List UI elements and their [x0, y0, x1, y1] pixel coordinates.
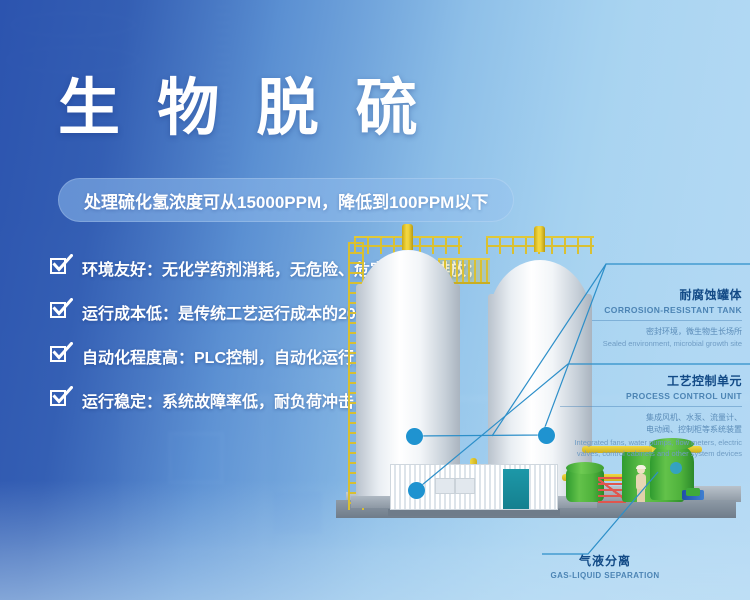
annotation-desc-en: Sealed environment, microbial growth sit…: [576, 338, 742, 349]
checkbox-checked-icon: [50, 346, 70, 366]
leader-line-separation: [542, 472, 658, 554]
subtitle-banner: 处理硫化氢浓度可从15000PPM，降低到100PPM以下: [58, 178, 514, 222]
feature-label: 运行稳定：系统故障率低，耐负荷冲击；: [82, 388, 370, 412]
annotation-divider: [560, 406, 742, 407]
annotation-desc-en-line2: valves, control cabinets and other syste…: [542, 448, 742, 459]
hotspot-dot-tank-left[interactable]: [406, 428, 423, 445]
annotation-title-en: GAS-LIQUID SEPARATION: [530, 571, 680, 580]
feature-label: 自动化程度高：PLC控制，自动化运行；: [82, 344, 370, 368]
checkbox-checked-icon: [50, 390, 70, 410]
annotation-gas-liquid-separation: 气液分离 GAS-LIQUID SEPARATION: [530, 552, 680, 580]
annotation-process-control-unit: 工艺控制单元 PROCESS CONTROL UNIT 集成风机、水泵、流量计、…: [542, 372, 742, 459]
annotation-divider: [592, 320, 742, 321]
annotation-desc-cn-line2: 电动阀、控制柜等系统装置: [542, 424, 742, 436]
annotation-corrosion-resistant-tank: 耐腐蚀罐体 CORROSION-RESISTANT TANK 密封环境，微生物生…: [576, 286, 742, 350]
subtitle-text: 处理硫化氢浓度可从15000PPM，降低到100PPM以下: [84, 188, 488, 213]
page-title: 生 物 脱 硫: [58, 78, 428, 140]
annotation-desc-cn-line1: 集成风机、水泵、流量计、: [542, 412, 742, 424]
annotation-title-cn: 气液分离: [530, 552, 680, 569]
checkbox-checked-icon: [50, 258, 70, 278]
hotspot-dot-control-unit[interactable]: [408, 482, 425, 499]
poster-canvas: 生 物 脱 硫 处理硫化氢浓度可从15000PPM，降低到100PPM以下 环境…: [0, 0, 750, 600]
annotation-title-en: PROCESS CONTROL UNIT: [542, 391, 742, 401]
annotation-desc-en-line1: Integrated fans, water pumps, flow meter…: [542, 437, 742, 448]
annotation-title-cn: 工艺控制单元: [542, 372, 742, 389]
checkbox-checked-icon: [50, 302, 70, 322]
annotation-title-en: CORROSION-RESISTANT TANK: [576, 305, 742, 315]
annotation-title-cn: 耐腐蚀罐体: [576, 286, 742, 303]
annotation-desc-cn: 密封环境，微生物生长场所: [576, 326, 742, 338]
